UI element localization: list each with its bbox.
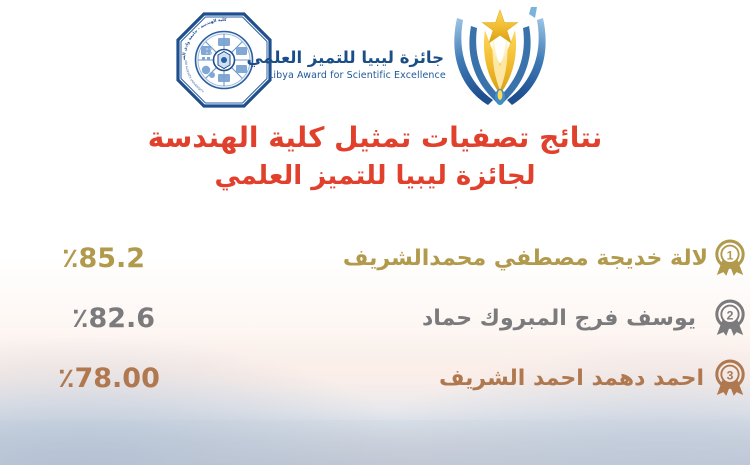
winner-name: لالة خديجة مصطفي محمدالشريف bbox=[210, 246, 714, 271]
poster-canvas: كلية الهندسة - جامعة وادي الشاطئ FACULTY… bbox=[0, 0, 750, 465]
svg-text:3: 3 bbox=[727, 368, 734, 382]
result-row: 1 لالة خديجة مصطفي محمدالشريف ٪85.2 bbox=[0, 228, 750, 288]
result-row: 2 يوسف فرج المبروك حماد ٪82.6 bbox=[0, 288, 750, 348]
winner-percent: ٪85.2 bbox=[0, 243, 210, 274]
poster-title: نتائج تصفيات تمثيل كلية الهندسة لجائزة ل… bbox=[0, 118, 750, 195]
gold-medal-icon: 1 bbox=[714, 238, 750, 278]
bronze-medal-icon: 3 bbox=[714, 358, 750, 398]
winner-name: يوسف فرج المبروك حماد bbox=[210, 306, 714, 331]
svg-text:1: 1 bbox=[727, 248, 734, 262]
svg-text:2: 2 bbox=[727, 308, 734, 322]
award-wordmark: جائزة ليبيا للتميز العلمي Libya Award fo… bbox=[268, 49, 444, 81]
award-trophy-icon bbox=[447, 4, 553, 112]
poster-header: كلية الهندسة - جامعة وادي الشاطئ FACULTY… bbox=[0, 4, 750, 112]
silver-medal-icon: 2 bbox=[714, 298, 750, 338]
award-title-arabic: جائزة ليبيا للتميز العلمي bbox=[268, 49, 444, 68]
title-line-2: لجائزة ليبيا للتميز العلمي bbox=[0, 158, 750, 195]
award-title-english: Libya Award for Scientific Excellence bbox=[268, 70, 444, 81]
result-row: 3 احمد دهمد احمد الشريف ٪78.00 bbox=[0, 348, 750, 408]
results-list: 1 لالة خديجة مصطفي محمدالشريف ٪85.2 2 يو… bbox=[0, 228, 750, 408]
winner-percent: ٪82.6 bbox=[0, 303, 210, 334]
title-line-1: نتائج تصفيات تمثيل كلية الهندسة bbox=[0, 118, 750, 158]
winner-name: احمد دهمد احمد الشريف bbox=[210, 366, 714, 391]
winner-percent: ٪78.00 bbox=[0, 363, 210, 394]
